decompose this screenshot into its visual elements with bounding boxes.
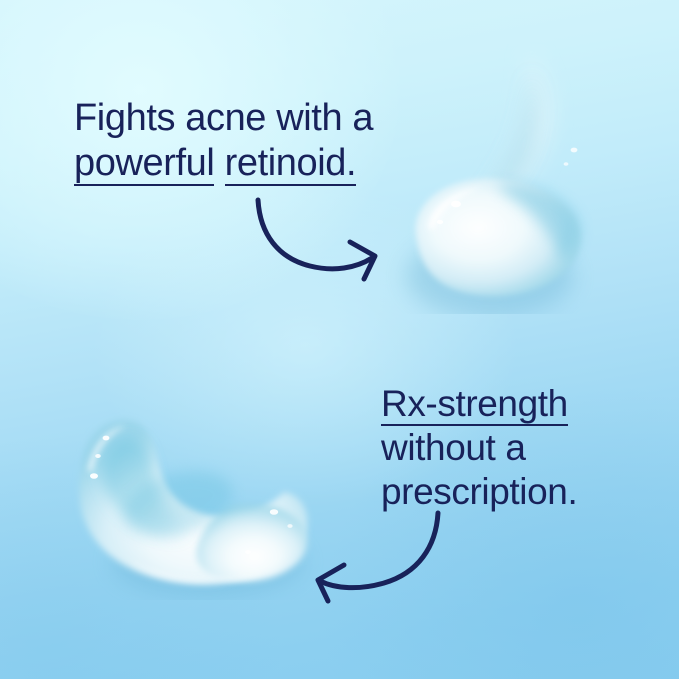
- underlined-retinoid: retinoid.: [225, 144, 357, 186]
- underlined-powerful: powerful: [74, 144, 214, 186]
- underlined-rx-strength: Rx-strength: [381, 385, 568, 426]
- arrow-bottom: [298, 505, 458, 605]
- headline-top-line-2: powerful retinoid.: [74, 141, 373, 186]
- headline-bottom-line-1: Rx-strength: [381, 382, 577, 426]
- gel-swatch-bottom-left: [58, 400, 328, 600]
- headline-top-space: [214, 142, 224, 184]
- headline-bottom-line-3: prescription.: [381, 470, 577, 514]
- light-wash-bottom-left: [0, 439, 280, 679]
- arrow-top: [238, 186, 398, 286]
- headline-bottom-line-2: without a: [381, 426, 577, 470]
- gel-swatch-top-right: [378, 44, 598, 314]
- headline-bottom: Rx-strength without a prescription.: [381, 382, 577, 514]
- headline-top: Fights acne with a powerful retinoid.: [74, 96, 373, 186]
- product-claim-graphic: Fights acne with a powerful retinoid. Rx…: [0, 0, 679, 679]
- headline-top-line-1: Fights acne with a: [74, 96, 373, 141]
